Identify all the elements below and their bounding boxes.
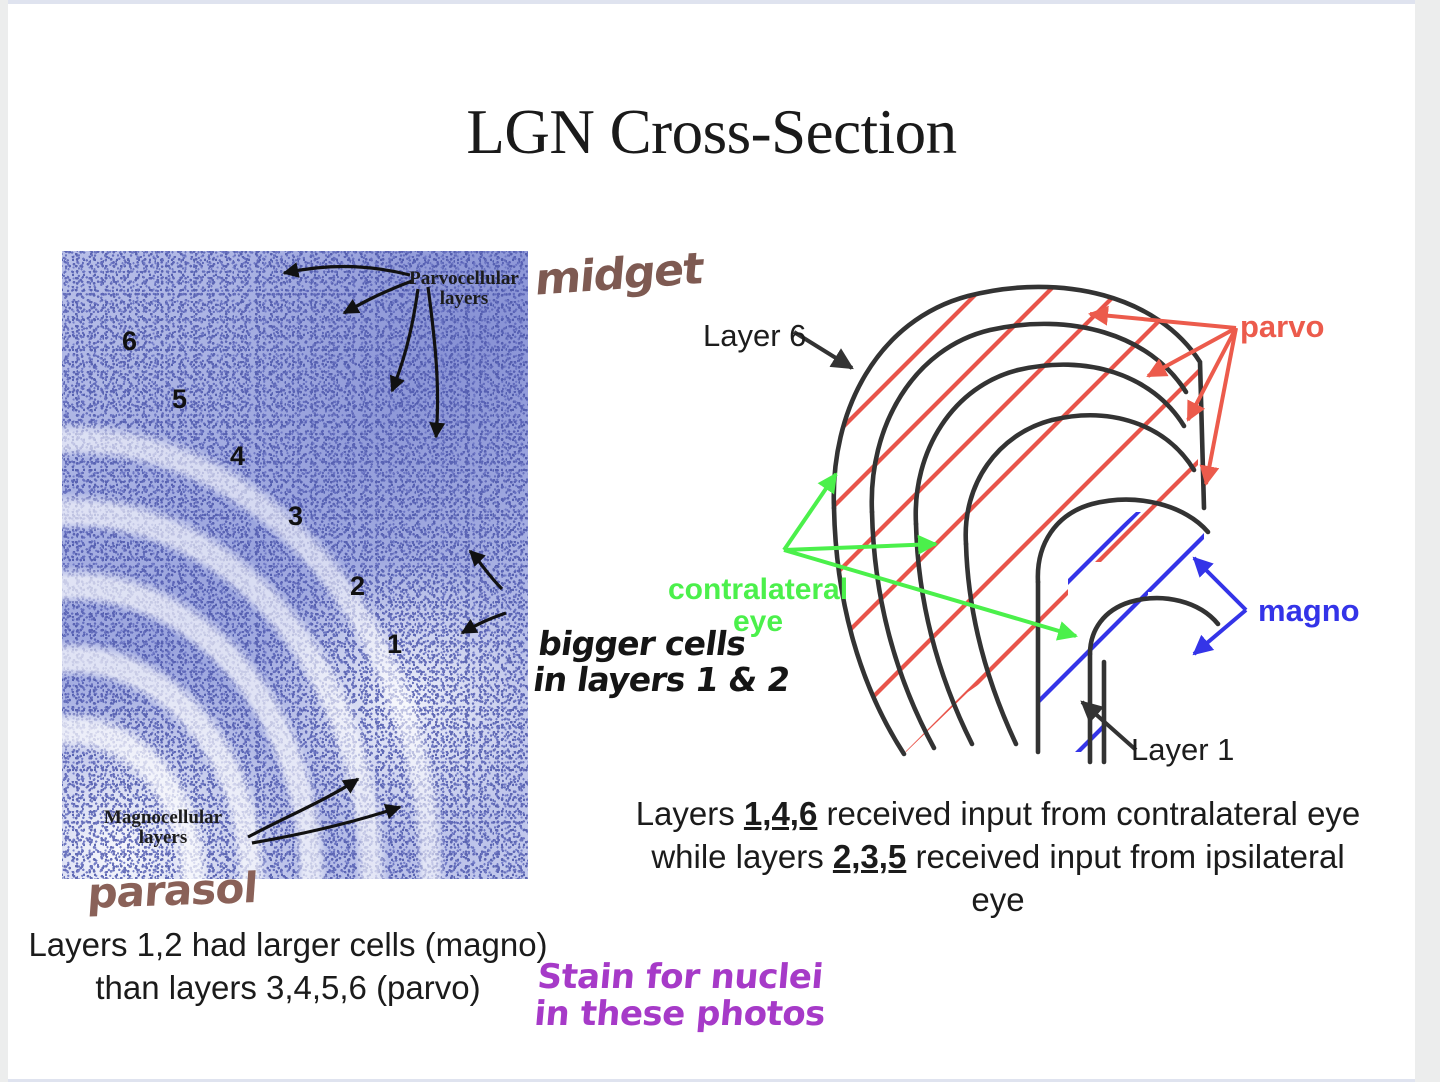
diagram-label-layer-1: Layer 1 [1131,732,1234,768]
diagram-label-parvo: parvo [1240,309,1324,345]
histology-layer-number-6: 6 [122,326,137,357]
handwriting-note-midget: midget [533,245,704,304]
caption-right-text-4: received input from [906,838,1196,875]
caption-right-bold-2: 2,3,5 [833,838,906,875]
histology-magnocellular-label: Magnocellularlayers [78,808,248,848]
handwriting-note-parasol: parasol [86,865,258,916]
caption-right-text-1: Layers [636,795,744,832]
caption-left: Layers 1,2 had larger cells (magno) than… [18,924,558,1010]
left-gutter [0,0,8,1082]
bigger-cells-arrow-1 [470,551,502,589]
histology-panel: 6 5 4 3 2 1 Parvocellularlayers Magnocel… [62,251,528,879]
lgn-layer-outlines [834,287,1218,762]
magno-arrow-1 [248,779,358,837]
magno-arrow-fan [1194,558,1246,654]
caption-right: Layers 1,4,6 received input from contral… [622,793,1374,922]
histology-layer-number-2: 2 [350,571,365,602]
histology-parvocellular-label: Parvocellularlayers [380,269,548,309]
histology-layer-number-1: 1 [387,629,402,660]
histology-layer-number-5: 5 [172,384,187,415]
page-title: LGN Cross-Section [8,96,1415,169]
caption-left-line-1: Layers 1,2 had larger cells (magno) [18,924,558,967]
diagram-label-layer-6: Layer 6 [703,318,806,354]
diagram-label-magno: magno [1258,593,1360,629]
caption-left-line-2: than layers 3,4,5,6 (parvo) [18,967,558,1010]
histology-layer-number-3: 3 [288,501,303,532]
handwriting-note-bigger-cells: bigger cells in layers 1 & 2 [531,626,797,697]
bigger-cells-arrow-2 [462,613,506,633]
right-gutter [1415,0,1440,1082]
caption-right-text-2: received input from contralateral [817,795,1298,832]
slide-frame: LGN Cross-Section 6 5 4 3 2 1 Parvocellu… [8,0,1415,1082]
caption-right-bold-1: 1,4,6 [744,795,817,832]
histology-layer-number-4: 4 [230,441,245,472]
parvo-arrow-4 [428,287,438,437]
handwriting-note-stain: Stain for nuclei in these photos [533,959,830,1032]
